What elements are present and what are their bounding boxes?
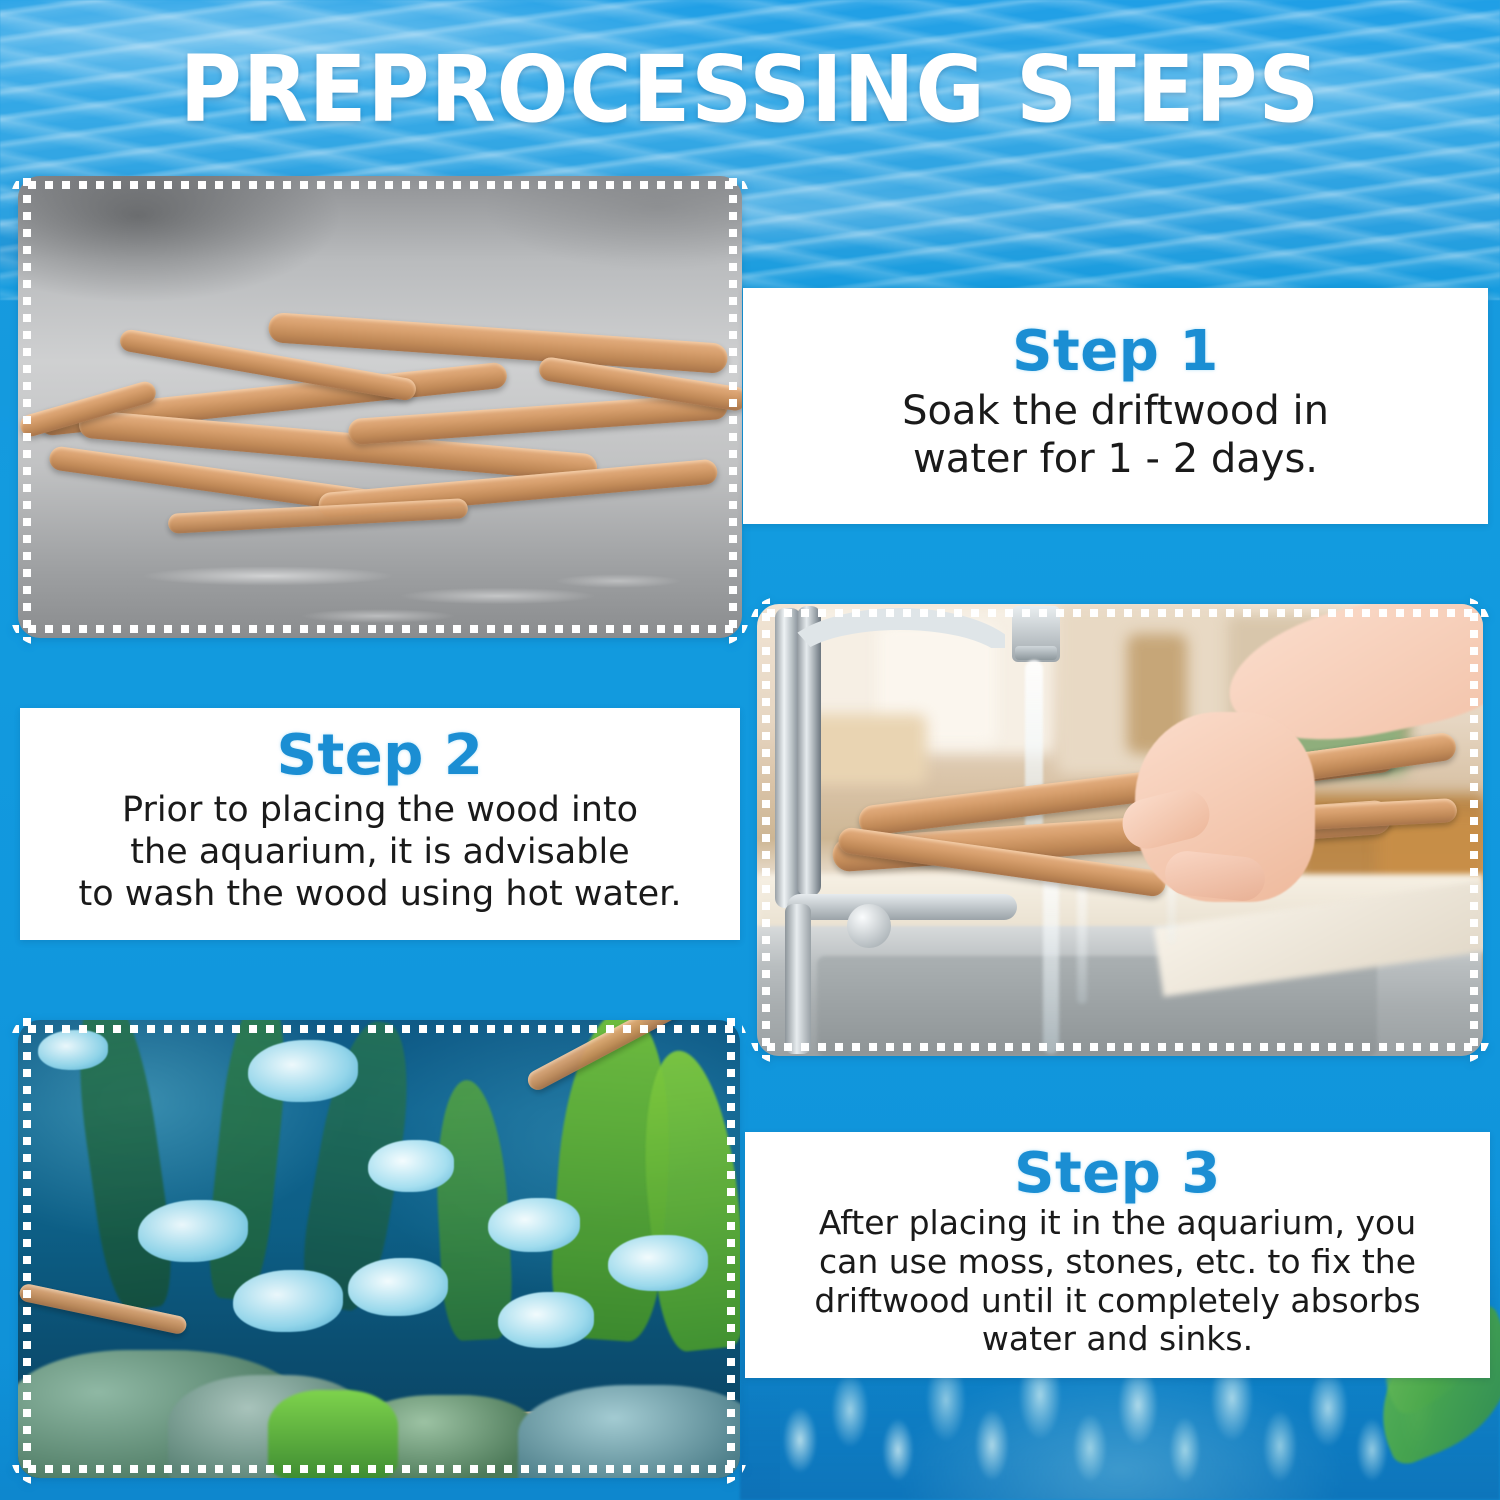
step-1-heading: Step 1: [761, 323, 1470, 380]
step-3-heading: Step 3: [763, 1145, 1472, 1202]
step-1-body-line: water for 1 - 2 days.: [761, 436, 1470, 483]
step-1-photo-image: [18, 176, 742, 638]
step-3-body-line: After placing it in the aquarium, you: [763, 1204, 1472, 1243]
page-title: PREPROCESSING STEPS: [60, 44, 1440, 136]
step-3-body: After placing it in the aquarium, you ca…: [763, 1204, 1472, 1360]
aquarium-fish: [368, 1140, 454, 1192]
step-1-body-line: Soak the driftwood in: [761, 388, 1470, 435]
step-3-body-line: water and sinks.: [763, 1320, 1472, 1359]
step-1-panel: Step 1 Soak the driftwood in water for 1…: [743, 288, 1488, 524]
aquarium-fish: [488, 1198, 580, 1252]
step-1-photo: [18, 176, 742, 638]
aquarium-fish: [38, 1030, 108, 1070]
aquarium-moss: [268, 1390, 398, 1478]
step-2-panel: Step 2 Prior to placing the wood into th…: [20, 708, 740, 940]
water-stream-lower: [1043, 854, 1059, 1054]
step-2-body: Prior to placing the wood into the aquar…: [38, 789, 722, 915]
water-stream: [1025, 660, 1043, 850]
step-1-body: Soak the driftwood in water for 1 - 2 da…: [761, 388, 1470, 482]
aquarium-stone: [518, 1385, 740, 1478]
faucet-base-arm: [787, 894, 1017, 920]
step-2-photo-image: [757, 604, 1483, 1056]
faucet-handle: [847, 904, 891, 948]
aquarium-fish: [608, 1235, 708, 1291]
step-3-body-line: can use moss, stones, etc. to fix the: [763, 1243, 1472, 1282]
aquarium-fish: [348, 1258, 448, 1316]
step-2-photo: [757, 604, 1483, 1056]
step-3-photo-image: [18, 1020, 740, 1478]
aquarium-fish: [233, 1270, 343, 1332]
step-3-photo: [18, 1020, 740, 1478]
step-3-panel: Step 3 After placing it in the aquarium,…: [745, 1132, 1490, 1378]
step-2-heading: Step 2: [38, 727, 722, 784]
aquarium-fish: [498, 1292, 594, 1348]
faucet-stem: [785, 904, 811, 1054]
step-3-body-line: driftwood until it completely absorbs: [763, 1282, 1472, 1321]
step-2-body-line: Prior to placing the wood into: [38, 789, 722, 831]
faucet-aerator: [1015, 646, 1057, 660]
step-2-body-line: the aquarium, it is advisable: [38, 831, 722, 873]
aquarium-fish: [248, 1040, 358, 1102]
aquarium-fish: [138, 1200, 248, 1262]
step-2-body-line: to wash the wood using hot water.: [38, 873, 722, 915]
infographic-canvas: PREPROCESSING STEPS Step 1 Soak the drif…: [0, 0, 1500, 1500]
water-splash: [1077, 874, 1087, 1004]
